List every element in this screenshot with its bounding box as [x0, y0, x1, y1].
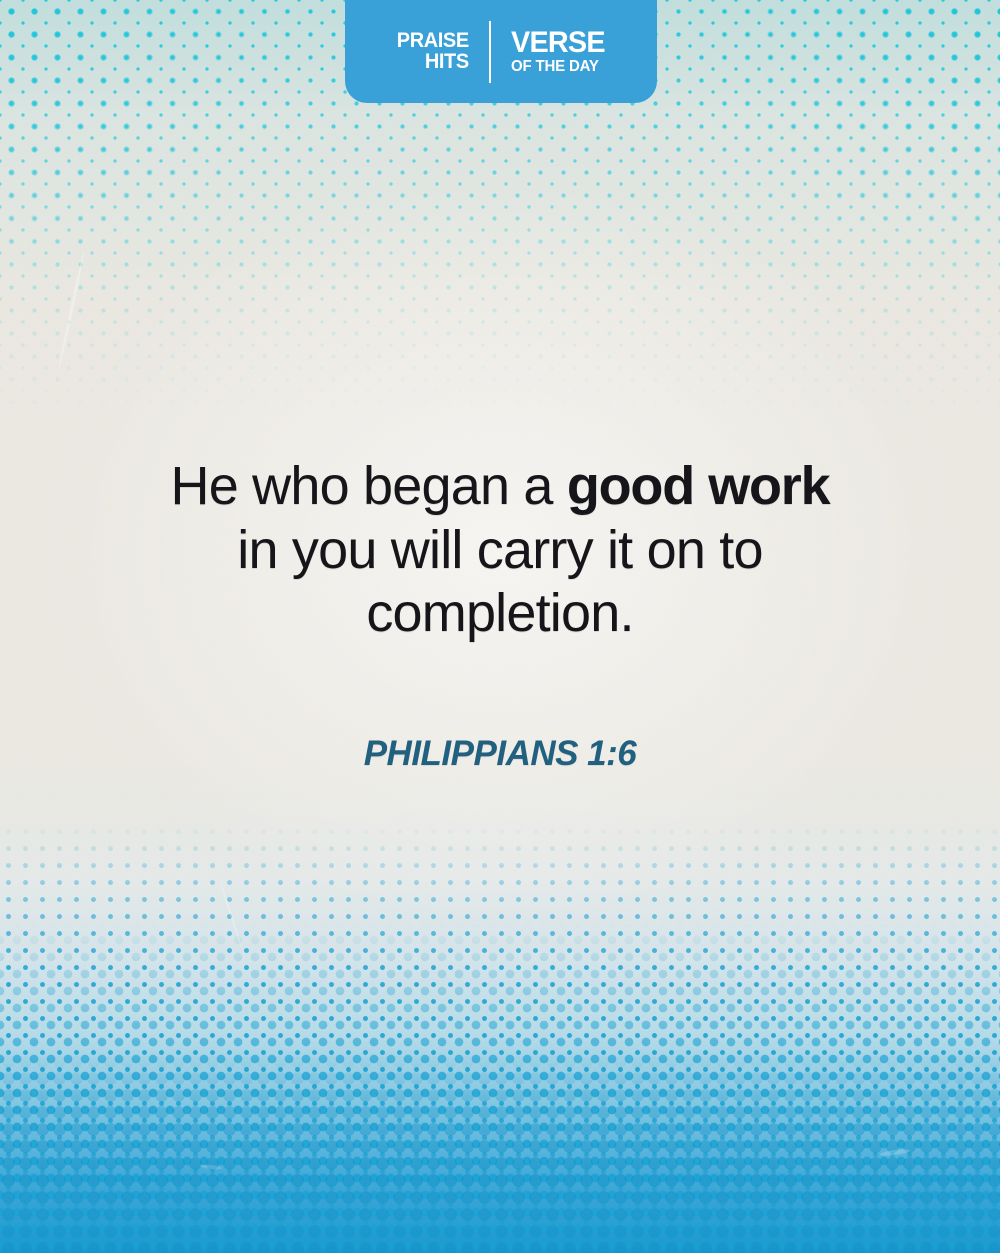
badge-title-line-1: VERSE [511, 29, 605, 58]
verse-segment-2: in you will carry it [237, 520, 632, 580]
verse-segment-1: He who began a [171, 456, 567, 516]
brand-badge-content: PRAISE HITS VERSE OF THE DAY [393, 21, 609, 83]
verse-emphasis-work: work [708, 456, 829, 516]
brand-line-1: PRAISE [397, 31, 469, 52]
verse-citation: PHILIPPIANS 1:6 [0, 734, 1000, 774]
badge-title-lockup: VERSE OF THE DAY [491, 29, 609, 75]
verse-of-the-day-poster: PRAISE HITS VERSE OF THE DAY He who bega… [0, 0, 1000, 1253]
bottom-halftone-pattern-large [0, 1053, 1000, 1253]
verse-emphasis-good: good [567, 456, 694, 516]
verse-block: He who began a good work in you will car… [0, 455, 1000, 774]
verse-text: He who began a good work in you will car… [170, 455, 830, 646]
badge-title-line-2: OF THE DAY [511, 59, 606, 75]
brand-line-2: HITS [397, 52, 469, 73]
brand-lockup: PRAISE HITS [393, 31, 489, 72]
brand-badge[interactable]: PRAISE HITS VERSE OF THE DAY [345, 0, 657, 103]
